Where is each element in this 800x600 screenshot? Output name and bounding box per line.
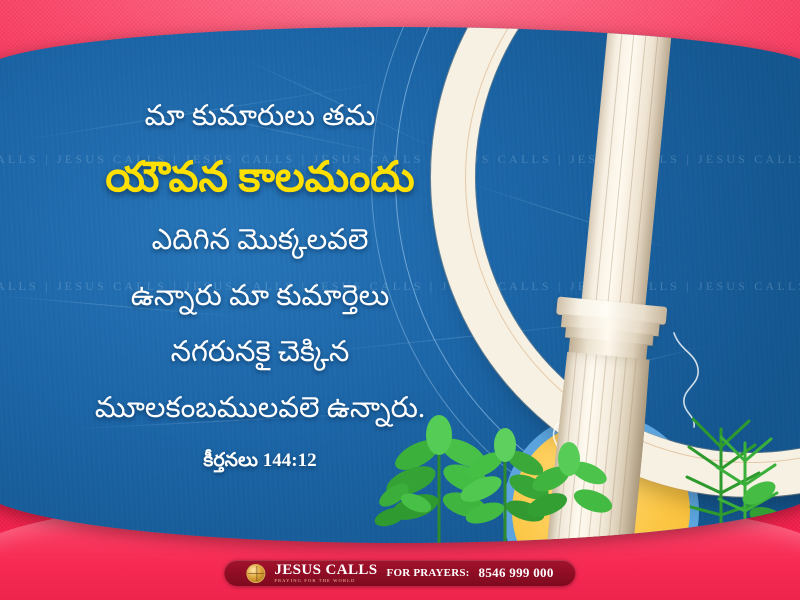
brand-name: JESUS CALLS: [274, 563, 377, 578]
verse-poster: JESUS CALLS | JESUS CALLS | JESUS CALLS …: [0, 0, 800, 600]
verse-line: మా కుమారులు తమ: [0, 88, 520, 144]
brand-tagline: PRAYING FOR THE WORLD: [274, 579, 377, 584]
jesus-calls-banner[interactable]: JESUS CALLS PRAYING FOR THE WORLD For Pr…: [224, 560, 575, 586]
verse-line: ఉన్నారు మా కుమార్తెలు: [0, 268, 520, 324]
column-lower-shaft: [544, 352, 652, 543]
verse-line: ఎదిగిన మొక్కలవలె: [0, 212, 520, 268]
verse-line: నగరునకై చెక్కిన: [0, 324, 520, 380]
brand-lockup: JESUS CALLS PRAYING FOR THE WORLD: [274, 563, 377, 584]
verse-line: మూలకంబములవలె ఉన్నారు.: [0, 380, 520, 436]
globe-cross-icon: [246, 564, 265, 583]
prayer-label: For Prayers:: [387, 567, 470, 579]
column-upper-shaft: [581, 27, 673, 319]
verse-reference: కీర్తనలు 144:12: [0, 450, 520, 476]
verse-block: మా కుమారులు తమ యౌవన కాలమందు ఎదిగిన మొక్క…: [0, 88, 520, 476]
prayer-phone-number[interactable]: 8546 999 000: [479, 565, 554, 581]
verse-line-highlight: యౌవన కాలమందు: [0, 144, 520, 212]
